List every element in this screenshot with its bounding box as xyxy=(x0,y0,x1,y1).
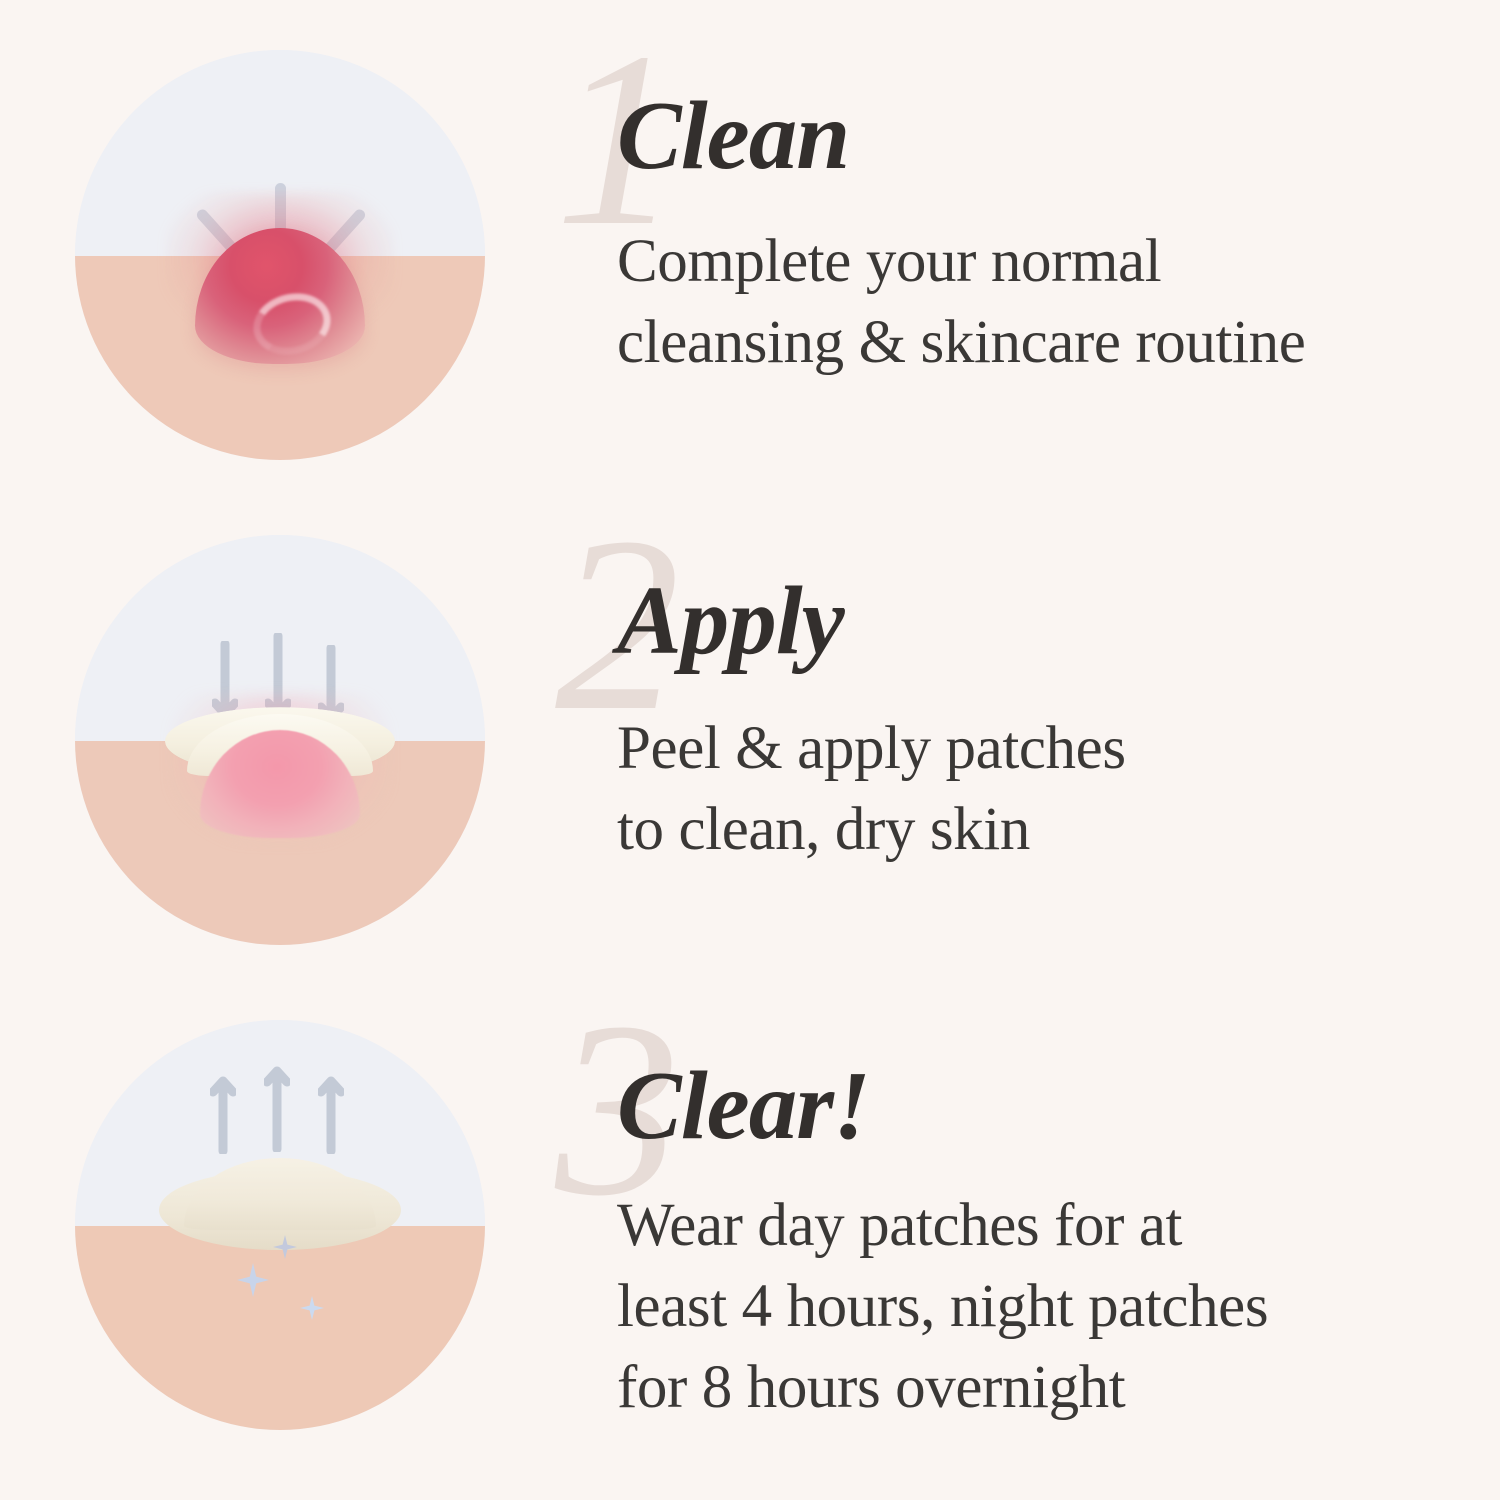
step-body-3: Wear day patches for at least 4 hours, n… xyxy=(617,1185,1467,1428)
arrow-up-right-icon xyxy=(318,1068,344,1154)
illustration-step-1 xyxy=(75,50,485,460)
step-title-3: Clear! xyxy=(617,1057,870,1154)
heading-group-step-2: 2 Apply xyxy=(555,510,1475,690)
text-column-step-1: 1 Clean Complete your normal cleansing &… xyxy=(555,25,1475,515)
skin-surface xyxy=(75,1226,485,1430)
heading-group-step-1: 1 Clean xyxy=(555,25,1475,205)
step-title-1: Clean xyxy=(617,87,849,184)
instructions-page: 1 Clean Complete your normal cleansing &… xyxy=(0,0,1500,1500)
illustration-step-2 xyxy=(75,535,485,945)
arrow-up-left-icon xyxy=(210,1068,236,1154)
step-3: 3 Clear! Wear day patches for at least 4… xyxy=(0,995,1500,1485)
step-title-2: Apply xyxy=(617,572,844,669)
heading-group-step-3: 3 Clear! xyxy=(555,995,1475,1175)
illustration-step-3 xyxy=(75,1020,485,1430)
step-1: 1 Clean Complete your normal cleansing &… xyxy=(0,25,1500,515)
step-2: 2 Apply Peel & apply patches to clean, d… xyxy=(0,510,1500,1000)
text-column-step-2: 2 Apply Peel & apply patches to clean, d… xyxy=(555,510,1475,1000)
text-column-step-3: 3 Clear! Wear day patches for at least 4… xyxy=(555,995,1475,1485)
pimple-highlight xyxy=(247,285,337,362)
step-body-2: Peel & apply patches to clean, dry skin xyxy=(617,708,1467,870)
arrow-up-center-icon xyxy=(264,1058,290,1152)
step-body-1: Complete your normal cleansing & skincar… xyxy=(617,221,1467,383)
